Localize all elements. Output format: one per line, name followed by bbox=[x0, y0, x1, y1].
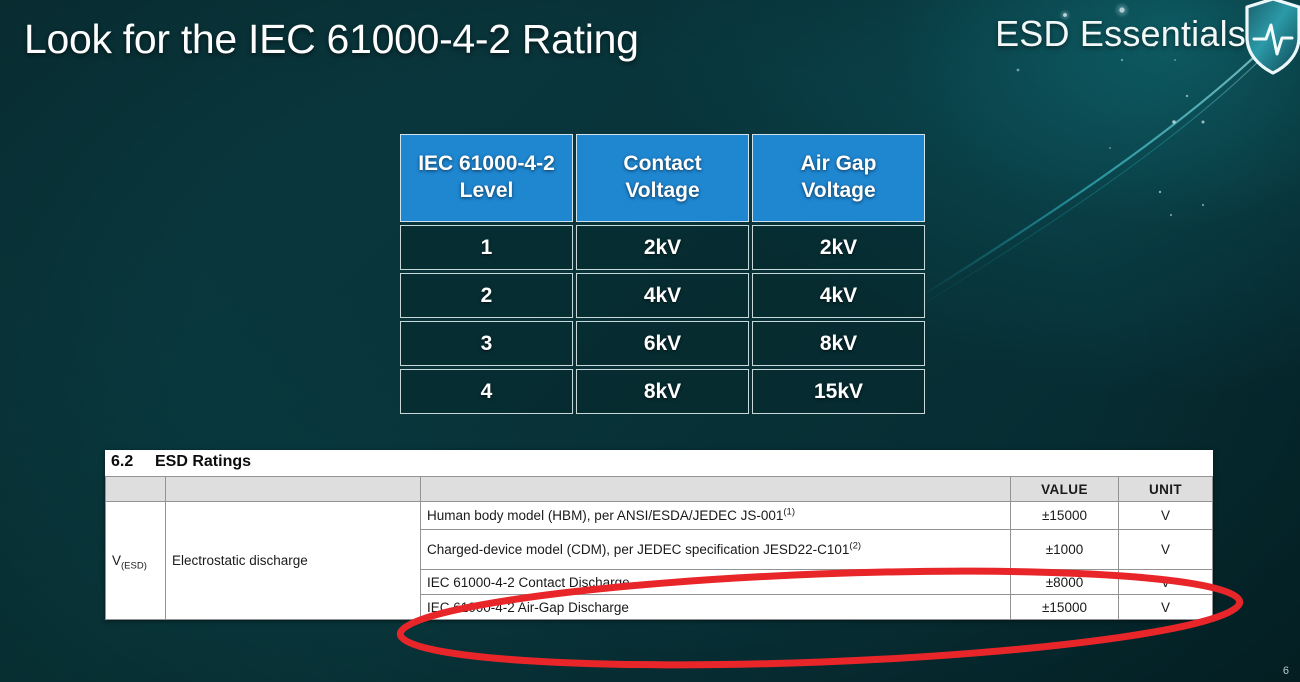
esd-unit-cell: V bbox=[1119, 502, 1213, 530]
datasheet-excerpt: 6.2ESD Ratings VALUE UNIT V(ESD) Electro… bbox=[105, 450, 1213, 620]
iec-header-level-line2: Level bbox=[460, 179, 514, 202]
esd-value-cell: ±8000 bbox=[1011, 570, 1119, 595]
page-title: Look for the IEC 61000-4-2 Rating bbox=[24, 16, 639, 63]
esd-header-parameter bbox=[166, 477, 421, 502]
esd-symbol-cell: V(ESD) bbox=[106, 502, 166, 620]
esd-header-value: VALUE bbox=[1011, 477, 1119, 502]
iec-header-airgap: Air Gap Voltage bbox=[752, 134, 925, 222]
esd-description-text: Human body model (HBM), per ANSI/ESDA/JE… bbox=[427, 508, 783, 523]
esd-header-description bbox=[421, 477, 1011, 502]
table-row: 3 6kV 8kV bbox=[400, 321, 925, 366]
esd-description-cell: IEC 61000-4-2 Air-Gap Discharge bbox=[421, 595, 1011, 620]
shield-pulse-icon bbox=[1242, 0, 1300, 78]
iec-cell-contact: 6kV bbox=[576, 321, 749, 366]
esd-table-header-row: VALUE UNIT bbox=[106, 477, 1213, 502]
esd-footnote-marker: (2) bbox=[849, 541, 861, 552]
esd-symbol-subscript: (ESD) bbox=[121, 560, 147, 571]
iec-header-airgap-line2: Voltage bbox=[801, 179, 875, 202]
esd-parameter-cell: Electrostatic discharge bbox=[166, 502, 421, 620]
iec-cell-airgap: 15kV bbox=[752, 369, 925, 414]
iec-header-level: IEC 61000-4-2 Level bbox=[400, 134, 573, 222]
slide-canvas: Look for the IEC 61000-4-2 Rating ESD Es… bbox=[0, 0, 1300, 682]
iec-level-table: IEC 61000-4-2 Level Contact Voltage Air … bbox=[397, 131, 928, 417]
iec-table-header-row: IEC 61000-4-2 Level Contact Voltage Air … bbox=[400, 134, 925, 222]
esd-value-cell: ±1000 bbox=[1011, 530, 1119, 570]
iec-header-contact-line2: Voltage bbox=[625, 179, 699, 202]
iec-cell-airgap: 8kV bbox=[752, 321, 925, 366]
iec-header-level-line1: IEC 61000-4-2 bbox=[418, 152, 555, 175]
esd-ratings-table: VALUE UNIT V(ESD) Electrostatic discharg… bbox=[105, 476, 1213, 620]
iec-cell-level: 2 bbox=[400, 273, 573, 318]
datasheet-section-heading: 6.2ESD Ratings bbox=[105, 450, 1213, 476]
esd-symbol: V bbox=[112, 553, 121, 568]
iec-cell-contact: 8kV bbox=[576, 369, 749, 414]
iec-cell-level: 1 bbox=[400, 225, 573, 270]
esd-unit-cell: V bbox=[1119, 530, 1213, 570]
table-row: V(ESD) Electrostatic discharge Human bod… bbox=[106, 502, 1213, 530]
iec-cell-level: 4 bbox=[400, 369, 573, 414]
esd-unit-cell: V bbox=[1119, 570, 1213, 595]
esd-footnote-marker: (1) bbox=[783, 507, 795, 518]
esd-description-text: Charged-device model (CDM), per JEDEC sp… bbox=[427, 542, 849, 557]
esd-value-cell: ±15000 bbox=[1011, 502, 1119, 530]
table-row: 4 8kV 15kV bbox=[400, 369, 925, 414]
esd-description-cell: IEC 61000-4-2 Contact Discharge bbox=[421, 570, 1011, 595]
iec-cell-airgap: 2kV bbox=[752, 225, 925, 270]
iec-header-airgap-line1: Air Gap bbox=[801, 152, 877, 175]
section-number: 6.2 bbox=[111, 453, 155, 471]
iec-header-contact: Contact Voltage bbox=[576, 134, 749, 222]
iec-cell-contact: 2kV bbox=[576, 225, 749, 270]
esd-header-unit: UNIT bbox=[1119, 477, 1213, 502]
esd-header-symbol bbox=[106, 477, 166, 502]
table-row: 1 2kV 2kV bbox=[400, 225, 925, 270]
iec-header-contact-line1: Contact bbox=[623, 152, 701, 175]
esd-description-cell: Human body model (HBM), per ANSI/ESDA/JE… bbox=[421, 502, 1011, 530]
table-row: 2 4kV 4kV bbox=[400, 273, 925, 318]
page-number: 6 bbox=[1283, 665, 1289, 677]
brand-label: ESD Essentials bbox=[995, 13, 1246, 55]
iec-cell-contact: 4kV bbox=[576, 273, 749, 318]
esd-value-cell: ±15000 bbox=[1011, 595, 1119, 620]
esd-description-cell: Charged-device model (CDM), per JEDEC sp… bbox=[421, 530, 1011, 570]
section-title: ESD Ratings bbox=[155, 453, 251, 470]
iec-cell-airgap: 4kV bbox=[752, 273, 925, 318]
iec-cell-level: 3 bbox=[400, 321, 573, 366]
esd-unit-cell: V bbox=[1119, 595, 1213, 620]
